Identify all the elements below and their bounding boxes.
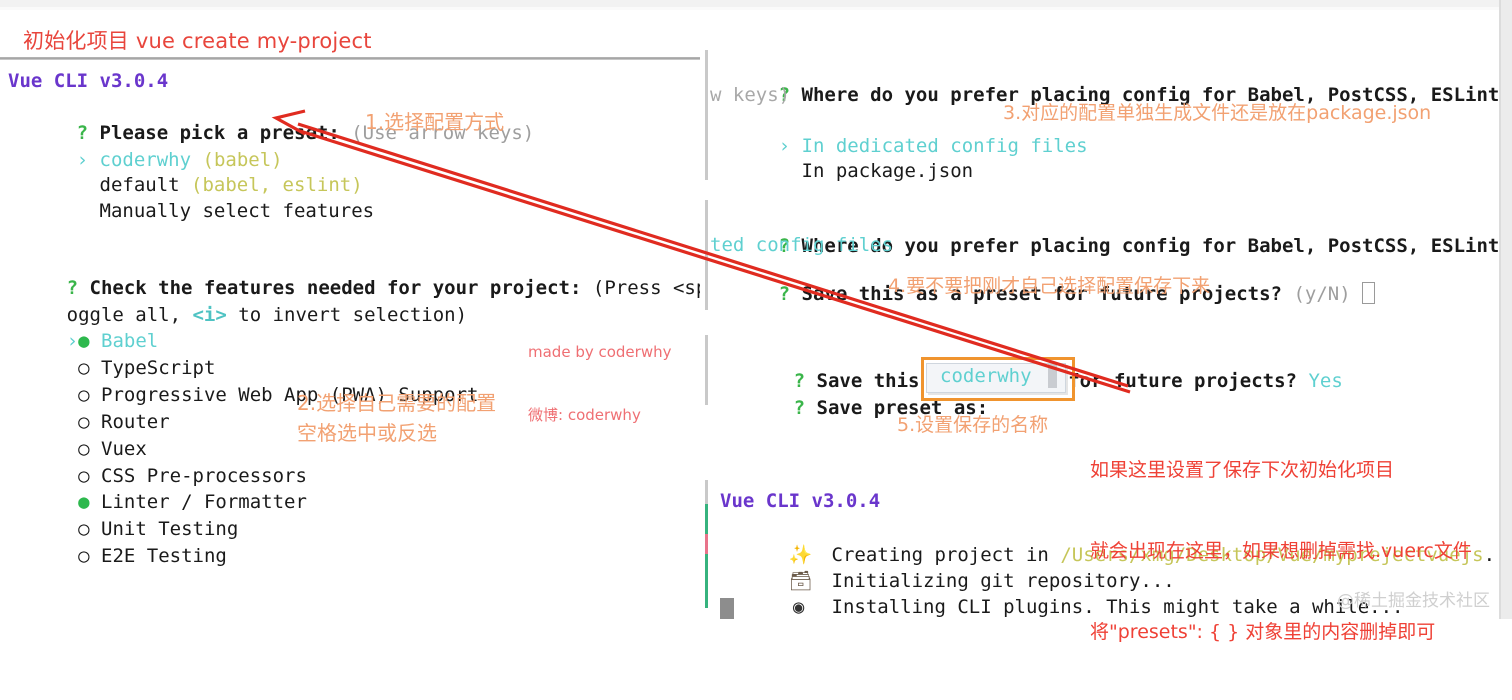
creating-project-suffix: .: [1484, 544, 1495, 566]
annotation-1: 1.选择配置方式: [365, 108, 504, 136]
note-line-2: 就会出现在这里，如果想删掉需找.vuerc文件: [1090, 538, 1472, 565]
config-hint-tail: w keys): [710, 82, 790, 109]
preset-option-label: Manually select features: [100, 200, 375, 222]
note-line-3: 将"presets": { } 对象里的内容删掉即可: [1090, 619, 1472, 646]
annotation-credit: made by coderwhy 微博: coderwhy: [528, 300, 671, 468]
gutter-bar-green: [705, 504, 708, 534]
features-hint-part1: (Press <sp: [593, 277, 700, 299]
top-band: [0, 0, 1512, 7]
gutter-bar: [705, 200, 708, 310]
annotation-4: 4.要不要把刚才自己选择配置保存下来: [888, 272, 1210, 300]
credit-line-1: made by coderwhy: [528, 342, 671, 363]
question-mark-icon: ?: [794, 397, 805, 419]
credit-line-2: 微博: coderwhy: [528, 405, 671, 426]
gutter-bar: [705, 335, 708, 405]
save-preset-answer: Yes: [1308, 370, 1342, 392]
gear-icon: ◉: [789, 594, 809, 619]
features-hint-post: to invert selection): [227, 304, 467, 326]
vue-cli-version-right: Vue CLI v3.0.4: [720, 488, 880, 515]
save-preset-hint: (y/N): [1293, 283, 1350, 305]
gutter-bar: [705, 480, 708, 504]
radio-empty-icon: ○: [78, 545, 89, 567]
vue-cli-version-left: Vue CLI v3.0.4: [8, 68, 168, 95]
invert-key-icon: <i>: [192, 304, 226, 326]
question-mark-icon: ?: [779, 283, 790, 305]
page-title: 初始化项目 vue create my-project: [23, 25, 372, 55]
screenshot-root: 初始化项目 vue create my-project Vue CLI v3.0…: [0, 0, 1512, 619]
annotation-5: 5.设置保存的名称: [897, 411, 1048, 439]
divider: [0, 57, 700, 60]
watermark: @稀土掘金技术社区: [1337, 586, 1490, 611]
config-option-packagejson[interactable]: In package.json: [710, 131, 973, 212]
gutter-bar: [705, 50, 708, 180]
right-edge-strip: [1500, 0, 1512, 619]
feature-label: E2E Testing: [101, 545, 227, 567]
config-option-label: In package.json: [802, 160, 974, 182]
highlight-box-preset-name: [921, 357, 1075, 401]
feature-item-e2e-testing[interactable]: ○ E2E Testing: [0, 516, 227, 597]
annotation-2: 2.选择自己需要的配置 空格选中或反选: [297, 388, 496, 448]
note-line-1: 如果这里设置了保存下次初始化项目: [1090, 457, 1472, 484]
annotation-note: 如果这里设置了保存下次初始化项目 就会出现在这里，如果想删掉需找.vuerc文件…: [1090, 403, 1472, 700]
gutter-bar-green: [705, 554, 708, 608]
text-cursor: [1362, 282, 1375, 304]
preset-option-manual[interactable]: Manually select features: [8, 171, 374, 252]
terminal-block-cursor: [720, 598, 734, 619]
right-edge-line: [1499, 0, 1501, 619]
annotation-3: 3.对应的配置单独生成文件还是放在package.json: [1003, 99, 1431, 127]
gutter-bar-pink: [705, 534, 708, 554]
